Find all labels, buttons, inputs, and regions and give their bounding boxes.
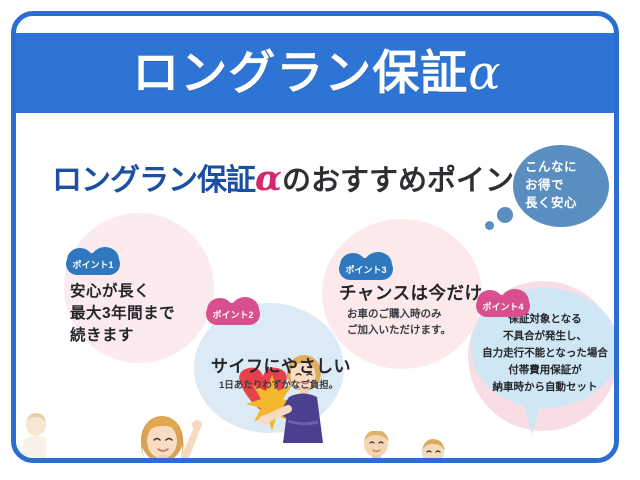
bubble-line-1: こんなに (525, 158, 609, 176)
point4-balloon-tail (523, 404, 541, 434)
badge-point-2: ポイント2 (206, 303, 260, 325)
header-title-alpha: α (468, 45, 501, 101)
poster-body: ロングラン保証αのおすすめポイント こんなに お得で 長く安心 (16, 113, 618, 463)
point-3-heading: チャンスは今だけ (339, 281, 482, 306)
point-2-sub: 1日あたりわずかなご負担。 (219, 379, 338, 392)
speech-bubble-tail-large (497, 207, 513, 223)
subtitle-alpha: α (255, 158, 282, 199)
point-3-sub-line-1: お車のご購入時のみ (347, 306, 451, 322)
point-2-heading: サイフにやさしい (211, 355, 351, 379)
point-1-line-1: 安心が長く (70, 281, 175, 303)
bubble-line-3: 長く安心 (525, 194, 609, 212)
subtitle-brand: ロングラン保証 (52, 164, 255, 197)
illustration-couple-consultation (334, 431, 468, 463)
page-title: ロングラン保証α (132, 49, 501, 97)
point-1-heading: 安心が長く 最大3年間まで 続きます (70, 281, 175, 347)
speech-bubble-tail-small (485, 221, 494, 230)
point-3-sub-line-2: ご加入いただけます。 (347, 322, 451, 338)
poster-frame: ロングラン保証α ロングラン保証αのおすすめポイント こんなに お得で 長く安心 (11, 11, 619, 463)
badge-point-4: ポイント4 (476, 295, 530, 317)
badge-point-3: ポイント3 (339, 258, 393, 280)
badge-point-1: ポイント1 (66, 253, 120, 275)
point-1-line-2: 最大3年間まで (70, 303, 175, 325)
point-4-line-2: 不具合が発生し、 (474, 328, 616, 345)
subtitle: ロングラン保証αのおすすめポイント (52, 161, 543, 196)
bubble-line-2: お得で (525, 176, 609, 194)
point-1-line-3: 続きます (70, 325, 175, 347)
promo-image-root: ロングラン保証α ロングラン保証αのおすすめポイント こんなに お得で 長く安心 (0, 0, 640, 480)
header-title-main: ロングラン保証 (132, 46, 468, 99)
header-band: ロングラン保証α (14, 33, 619, 113)
speech-bubble-highlight: こんなに お得で 長く安心 (513, 145, 609, 227)
point-4-line-3: 自力走行不能となった場合 (474, 345, 616, 362)
point-4-line-5: 納車時から自動セット (474, 379, 616, 396)
point-3-sub: お車のご購入時のみ ご加入いただけます。 (347, 306, 451, 339)
subtitle-tail: のおすすめポイント (282, 165, 543, 197)
illustration-woman-pointing (124, 403, 210, 463)
point-4-heading: 保証対象となる 不具合が発生し、 自力走行不能となった場合 付帯費用保証が 納車… (474, 311, 616, 396)
illustration-edge-figure (16, 413, 46, 463)
point-4-line-4: 付帯費用保証が (474, 362, 616, 379)
